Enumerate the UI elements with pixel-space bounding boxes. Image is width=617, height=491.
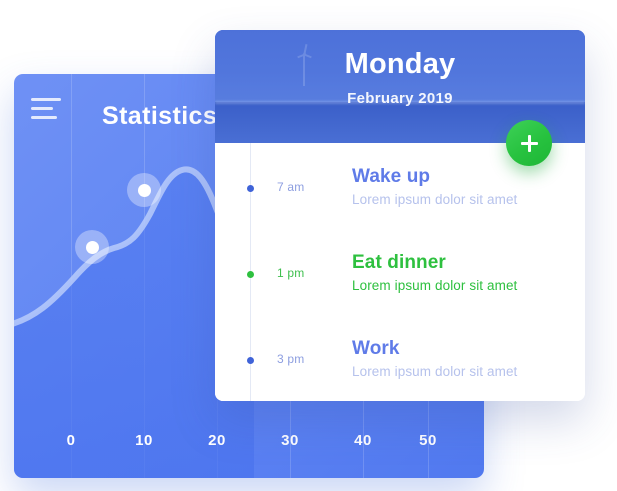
item-time: 3 pm <box>277 352 337 366</box>
x-axis-tick: 0 <box>67 432 76 449</box>
page-title: Statistics <box>102 102 217 131</box>
x-axis-tick: 50 <box>419 432 437 449</box>
timeline-dot-icon <box>247 271 254 278</box>
agenda-list: 7 am Wake up Lorem ipsum dolor sit amet … <box>215 143 585 401</box>
agenda-card: Monday February 2019 7 am Wake up Lorem … <box>215 30 585 401</box>
item-title: Wake up <box>352 165 517 189</box>
item-title: Work <box>352 337 517 361</box>
list-item[interactable]: 1 pm Eat dinner Lorem ipsum dolor sit am… <box>215 229 585 315</box>
item-description: Lorem ipsum dolor sit amet <box>352 276 517 296</box>
x-axis-tick: 20 <box>208 432 226 449</box>
item-time: 7 am <box>277 180 337 194</box>
item-description: Lorem ipsum dolor sit amet <box>352 362 517 382</box>
x-axis-tick: 10 <box>135 432 153 449</box>
chart-marker-point-2[interactable] <box>127 173 161 207</box>
list-item[interactable]: 3 pm Work Lorem ipsum dolor sit amet <box>215 315 585 401</box>
item-text-block: Wake up Lorem ipsum dolor sit amet <box>352 165 517 210</box>
item-time: 1 pm <box>277 266 337 280</box>
plus-icon <box>521 142 538 145</box>
agenda-month-year: February 2019 <box>215 90 585 107</box>
chart-marker-point-1[interactable] <box>75 230 109 264</box>
timeline-dot-icon <box>247 185 254 192</box>
agenda-day-title: Monday <box>215 48 585 81</box>
item-text-block: Eat dinner Lorem ipsum dolor sit amet <box>352 251 517 296</box>
item-text-block: Work Lorem ipsum dolor sit amet <box>352 337 517 382</box>
x-axis-tick: 30 <box>281 432 299 449</box>
item-description: Lorem ipsum dolor sit amet <box>352 190 517 210</box>
add-event-button[interactable] <box>506 120 552 166</box>
timeline-dot-icon <box>247 357 254 364</box>
app-canvas: Statistics 0 10 20 30 40 50 Monday Febru… <box>0 0 617 491</box>
chart-x-axis: 0 10 20 30 40 50 <box>14 432 484 452</box>
item-title: Eat dinner <box>352 251 517 275</box>
agenda-card-body: 7 am Wake up Lorem ipsum dolor sit amet … <box>215 143 585 401</box>
hamburger-menu-icon[interactable] <box>31 98 61 119</box>
x-axis-tick: 40 <box>354 432 372 449</box>
